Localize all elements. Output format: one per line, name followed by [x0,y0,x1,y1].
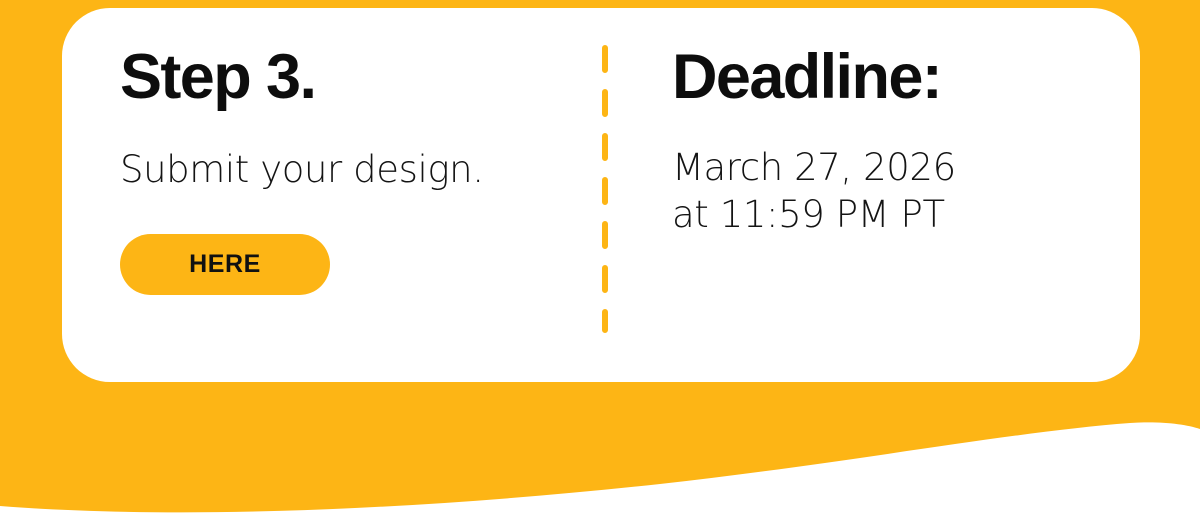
dashed-divider [602,45,608,333]
promo-banner: Step 3. Submit your design. HERE Deadlin… [0,0,1200,518]
content-card: Step 3. Submit your design. HERE Deadlin… [62,8,1140,382]
step-description: Submit your design. [120,147,560,192]
deadline-time: at 11:59 PM PT [672,192,1102,237]
deadline-date: March 27, 2026 [672,145,1102,190]
here-button-label: HERE [189,252,261,277]
here-button[interactable]: HERE [120,234,330,295]
deadline-column: Deadline: March 27, 2026 at 11:59 PM PT [672,46,1102,237]
step-heading: Step 3. [120,46,560,109]
deadline-heading: Deadline: [672,46,1102,109]
step-column: Step 3. Submit your design. HERE [120,46,560,295]
wave-decoration [0,388,1200,518]
